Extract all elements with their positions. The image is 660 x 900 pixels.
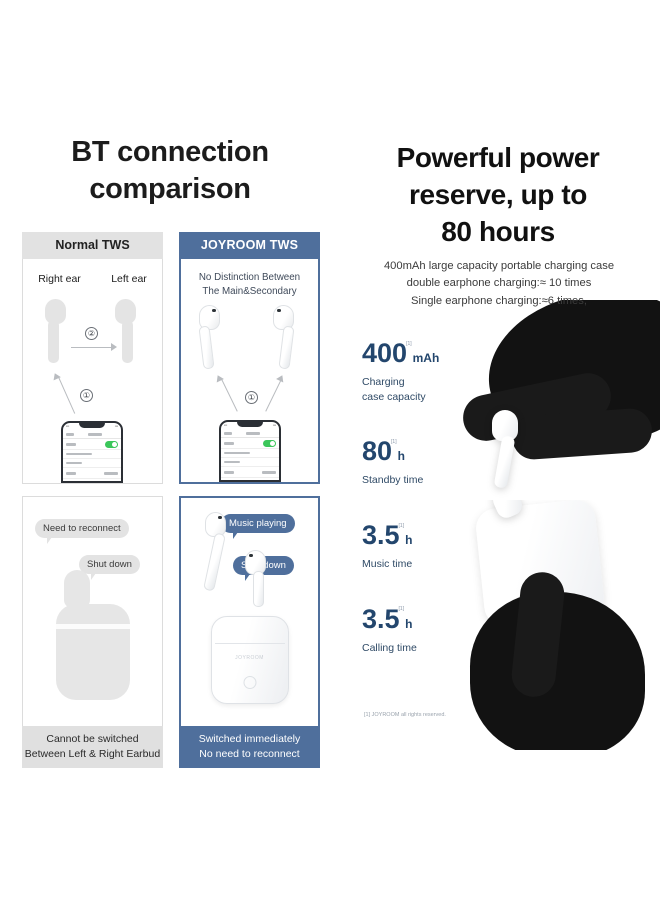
bluetooth-toggle <box>105 441 118 448</box>
phone-nav-title <box>88 433 102 436</box>
step-number-secondary: ② <box>85 327 98 340</box>
phone-row-label <box>224 442 234 445</box>
earbud-sensor <box>277 309 281 312</box>
earbud-sensor <box>212 309 216 312</box>
spec-value-row: 80[1]h <box>362 438 502 465</box>
phone-bluetooth-screen: ▪▪▪ ▪▪▪ <box>61 421 123 483</box>
phone-device-row <box>63 468 121 479</box>
spec-item-calling: 3.5[1]h Calling time <box>362 606 502 656</box>
arrow-to-right-bud-line <box>265 379 282 412</box>
bt-comparison-section: BT connection comparison Normal TWS Righ… <box>0 0 340 900</box>
earbud-in-case <box>245 550 266 575</box>
phone-signal: ▪▪▪ <box>273 423 276 429</box>
joyroom-tws-bottom-panel: Music playing Shut down <box>179 496 320 768</box>
phone-bluetooth-row <box>221 438 279 449</box>
phone-row-value <box>104 472 118 475</box>
bubble-tail <box>91 573 96 580</box>
normal-tws-diagram: Right ear Left ear <box>22 259 163 484</box>
joyroom-tws-diagram: No Distinction Between The Main&Secondar… <box>179 259 320 484</box>
spec-value: 400 <box>362 340 407 367</box>
arrow-primary-line <box>58 377 75 414</box>
spec-footnote-marker: [1] <box>399 523 405 529</box>
bubble-tail <box>233 532 238 539</box>
status-bubble-text: Music playing <box>229 518 287 529</box>
spec-label-line2: case capacity <box>362 391 426 403</box>
desc-line1: 400mAh large capacity portable charging … <box>384 260 614 272</box>
earbud-out-of-case <box>205 512 226 537</box>
phone-row-label <box>66 462 82 464</box>
desc-line3: Single earphone charging:≈6 times, <box>411 295 587 307</box>
charging-case-silhouette <box>56 604 130 700</box>
product-infographic: BT connection comparison Normal TWS Righ… <box>0 0 660 900</box>
phone-nav-bar <box>63 430 121 439</box>
phone-notch <box>237 422 263 427</box>
earbud-stem <box>253 571 264 607</box>
bt-comparison-title: BT connection comparison <box>0 134 340 208</box>
phone-device-row <box>63 450 121 459</box>
power-reserve-title: Powerful power reserve, up to 80 hours <box>348 140 648 251</box>
arrow-secondary-line <box>71 347 113 348</box>
ear-labels: Right ear Left ear <box>23 273 162 285</box>
desc-line2: double earphone charging:≈ 10 times <box>407 277 592 289</box>
normal-tws-caption: Cannot be switched Between Left & Right … <box>22 726 163 768</box>
phone-back-icon <box>224 432 232 435</box>
joyroom-tws-column: JOYROOM TWS No Distinction Between The M… <box>179 232 320 780</box>
status-bubble-text: Need to reconnect <box>43 523 121 534</box>
spec-value-row: 3.5[1]h <box>362 606 502 633</box>
bt-title-line1: BT connection <box>71 136 269 168</box>
spec-unit: mAh <box>413 351 440 365</box>
spec-value-row: 400[1]mAh <box>362 340 502 367</box>
thumb <box>511 407 654 461</box>
earbud-right-silhouette <box>45 299 66 324</box>
caption-line1: Switched immediately <box>199 732 301 747</box>
phone-row-label <box>224 452 250 454</box>
earbud-stem <box>48 320 59 363</box>
phone-row-label <box>224 461 240 463</box>
phone-back-icon <box>66 433 74 436</box>
joyroom-subhead: No Distinction Between The Main&Secondar… <box>181 271 318 299</box>
normal-tws-top-panel: Normal TWS Right ear Left ear <box>22 232 163 484</box>
spec-label: Standby time <box>362 473 502 488</box>
spec-label: Music time <box>362 557 502 572</box>
status-bubble-shutdown: Shut down <box>79 555 140 574</box>
step-number-primary: ① <box>245 391 258 404</box>
phone-notch <box>79 423 105 428</box>
spec-item-capacity: 400[1]mAh Charging case capacity <box>362 340 502 404</box>
right-ear-label: Right ear <box>38 273 81 285</box>
spec-value: 80 <box>362 438 392 465</box>
caption-line1: Cannot be switched <box>46 732 138 747</box>
spec-value: 3.5 <box>362 606 400 633</box>
joyroom-tws-caption: Switched immediately No need to reconnec… <box>179 726 320 768</box>
comparison-grid: Normal TWS Right ear Left ear <box>22 232 320 780</box>
bubble-tail <box>245 574 250 581</box>
phone-signal: ▪▪▪ <box>115 424 118 430</box>
spec-item-music: 3.5[1]h Music time <box>362 522 502 572</box>
left-ear-label: Left ear <box>111 273 147 285</box>
phone-bluetooth-row <box>63 439 121 450</box>
spec-footnote-marker: [1] <box>406 341 412 347</box>
phone-nav-bar <box>221 429 279 438</box>
phone-device-row <box>221 449 279 458</box>
case-pairing-button <box>243 676 256 689</box>
case-lid-line <box>215 643 285 644</box>
spec-item-standby: 80[1]h Standby time <box>362 438 502 488</box>
subhead-line1: No Distinction Between <box>199 272 300 283</box>
power-title-line3: 80 hours <box>441 216 555 247</box>
earbud-stem <box>203 532 226 591</box>
joyroom-tws-shutdown-diagram: Music playing Shut down <box>179 496 320 726</box>
earbud-stem <box>122 320 133 363</box>
spec-label: Charging case capacity <box>362 375 502 404</box>
normal-tws-column: Normal TWS Right ear Left ear <box>22 232 163 780</box>
arrow-to-right-bud-head <box>276 374 286 383</box>
earbud-sensor <box>218 516 222 519</box>
spec-value: 3.5 <box>362 522 400 549</box>
earbud-right-photo <box>273 305 294 330</box>
case-brand-label: JOYROOM <box>212 655 288 661</box>
phone-row-label <box>66 453 92 455</box>
spec-label-line1: Charging <box>362 376 405 388</box>
joyroom-tws-top-panel: JOYROOM TWS No Distinction Between The M… <box>179 232 320 484</box>
caption-line2: No need to reconnect <box>199 747 299 762</box>
earbud-stem <box>198 325 214 369</box>
phone-nav-title <box>246 432 260 435</box>
phone-bluetooth-screen: ▪▪▪ ▪▪▪ <box>219 420 281 482</box>
phone-row-label <box>66 472 76 475</box>
caption-line2: Between Left & Right Earbud <box>25 747 160 762</box>
spec-list: 400[1]mAh Charging case capacity 80[1]h … <box>362 340 502 689</box>
spec-unit: h <box>405 533 412 547</box>
phone-device-row <box>63 459 121 468</box>
spec-unit: h <box>405 617 412 631</box>
step-number-primary: ① <box>80 389 93 402</box>
phone-device-row <box>221 458 279 467</box>
power-reserve-section: Powerful power reserve, up to 80 hours 4… <box>340 0 660 900</box>
normal-tws-header: Normal TWS <box>22 232 163 259</box>
spec-unit: h <box>398 449 405 463</box>
spec-footnote-marker: [1] <box>399 606 405 612</box>
normal-tws-shutdown-diagram: Need to reconnect Shut down <box>22 496 163 726</box>
phone-row-label <box>66 443 76 446</box>
phone-time: ▪▪▪ <box>66 424 69 430</box>
phone-row-value <box>262 471 276 474</box>
earbud-left-photo <box>199 305 220 330</box>
copyright-footnote: [1] JOYROOM all rights reserved. <box>364 712 446 718</box>
charging-case-photo: JOYROOM <box>211 616 289 704</box>
status-bubble-reconnect: Need to reconnect <box>35 519 129 538</box>
status-bubble-music: Music playing <box>221 514 295 533</box>
spec-footnote-marker: [1] <box>391 439 397 445</box>
subhead-line2: The Main&Secondary <box>202 286 296 297</box>
power-title-line2: reserve, up to <box>409 179 587 210</box>
phone-time: ▪▪▪ <box>224 423 227 429</box>
spec-label: Calling time <box>362 641 502 656</box>
earbud-left-silhouette <box>115 299 136 324</box>
status-bubble-text: Shut down <box>87 559 132 570</box>
arrow-secondary-head <box>111 343 117 351</box>
joyroom-tws-header: JOYROOM TWS <box>179 232 320 259</box>
earbud-stem <box>278 325 294 369</box>
phone-row-label <box>224 471 234 474</box>
power-title-line1: Powerful power <box>397 142 600 173</box>
arrow-to-left-bud-line <box>221 379 238 412</box>
earbud-sensor <box>249 554 253 557</box>
spec-value-row: 3.5[1]h <box>362 522 502 549</box>
power-reserve-description: 400mAh large capacity portable charging … <box>346 258 652 310</box>
bt-title-line2: comparison <box>0 171 340 208</box>
phone-device-row <box>221 467 279 478</box>
bluetooth-toggle <box>263 440 276 447</box>
normal-tws-bottom-panel: Need to reconnect Shut down Cannot be sw… <box>22 496 163 768</box>
bubble-tail <box>47 537 52 544</box>
